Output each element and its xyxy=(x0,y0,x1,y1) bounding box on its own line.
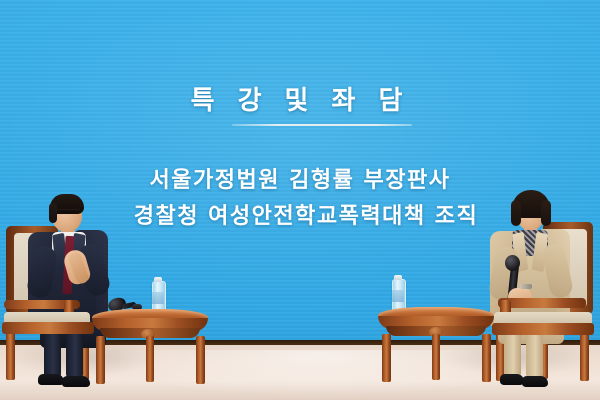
water-bottle-left-label xyxy=(152,292,164,304)
side-table-left-leg-rear xyxy=(196,336,205,384)
chair-right-seat-apron xyxy=(492,323,594,335)
stage-photo: 특 강 및 좌 담 서울가정법원 김형률 부장판사 경찰청 여성안전학교폭력대책… xyxy=(0,0,600,400)
man-shoe-left xyxy=(38,374,64,385)
side-table-left-leg-mid xyxy=(146,336,154,382)
side-table-right-leg-rear xyxy=(482,334,491,382)
man-leg-right xyxy=(66,330,83,378)
woman-hair-left-side xyxy=(511,200,521,226)
water-bottle-right-cap xyxy=(394,275,402,280)
woman-hair-right-side xyxy=(541,200,551,226)
chair-left-leg-front xyxy=(6,332,15,380)
water-bottle-left-cap xyxy=(154,277,162,282)
side-table-left-leg-front xyxy=(96,336,105,384)
man-leg-left xyxy=(44,330,61,378)
woman-shoe-left xyxy=(500,374,524,385)
chair-right-armrest xyxy=(498,298,586,308)
slide-title: 특 강 및 좌 담 xyxy=(0,80,600,117)
chair-left-seat-apron xyxy=(2,322,94,334)
slide-subtitle-line-2: 경찰청 여성안전학교폭력대책 조직 xyxy=(0,198,600,230)
woman-leg-left xyxy=(504,328,521,378)
handheld-microphone-head-icon xyxy=(505,255,520,271)
man-eyeglasses xyxy=(55,209,80,216)
water-bottle-right-label xyxy=(392,290,404,302)
slide-title-underline xyxy=(232,124,412,126)
slide-subtitle-line-1: 서울가정법원 김형률 부장판사 xyxy=(0,162,600,194)
side-table-right-leg-front xyxy=(382,334,391,382)
woman-shoe-right xyxy=(522,376,548,387)
man-shoe-right xyxy=(62,376,90,387)
woman-leg-right xyxy=(526,328,543,378)
side-table-right-leg-mid xyxy=(432,334,440,380)
chair-right-leg-rear xyxy=(580,333,589,381)
woman-wristwatch xyxy=(520,284,532,289)
